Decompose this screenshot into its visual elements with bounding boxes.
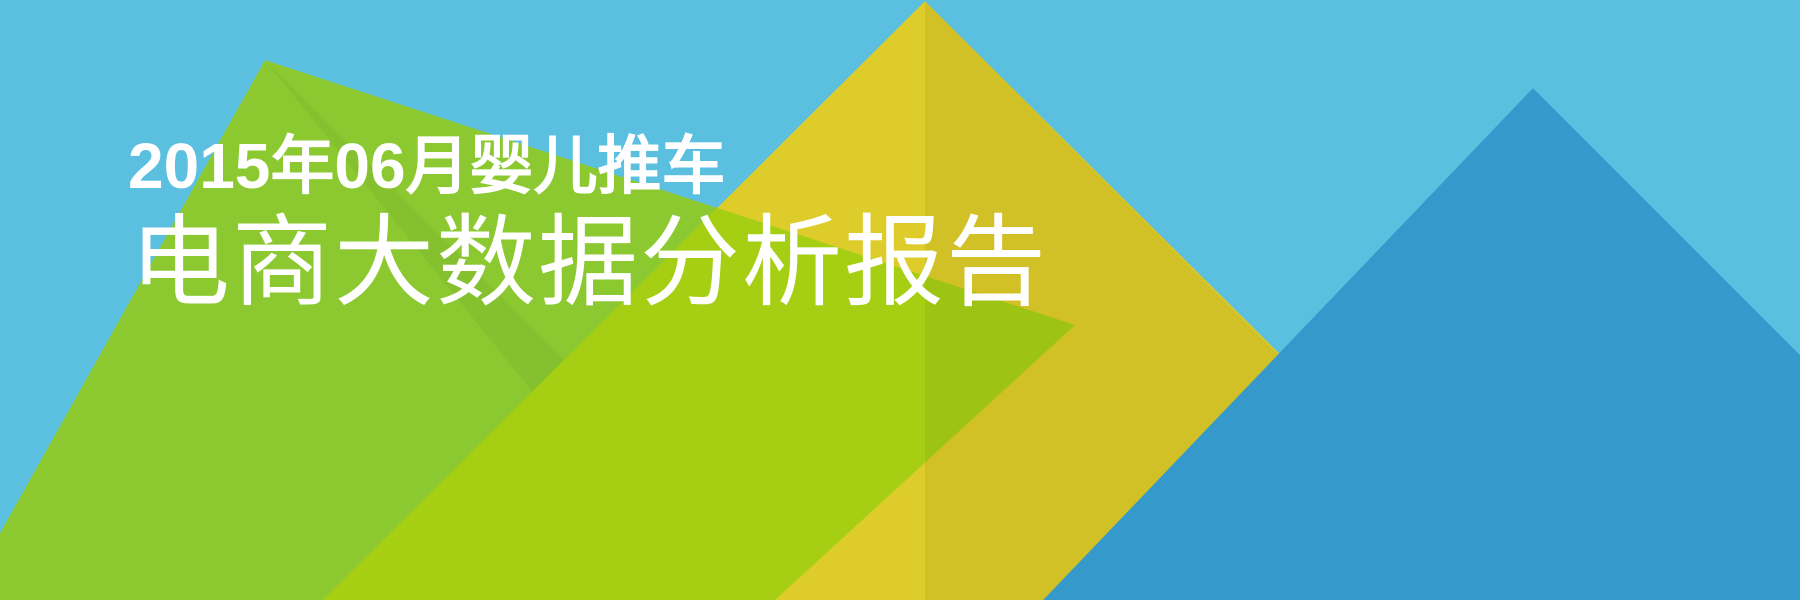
page-title: 2015年06月婴儿推车 电商大数据分析报告: [128, 132, 1048, 319]
title-line-primary: 2015年06月婴儿推车: [128, 132, 1048, 201]
title-line-secondary: 电商大数据分析报告: [130, 207, 1048, 319]
report-cover-banner: 2015年06月婴儿推车 电商大数据分析报告: [0, 0, 1800, 600]
